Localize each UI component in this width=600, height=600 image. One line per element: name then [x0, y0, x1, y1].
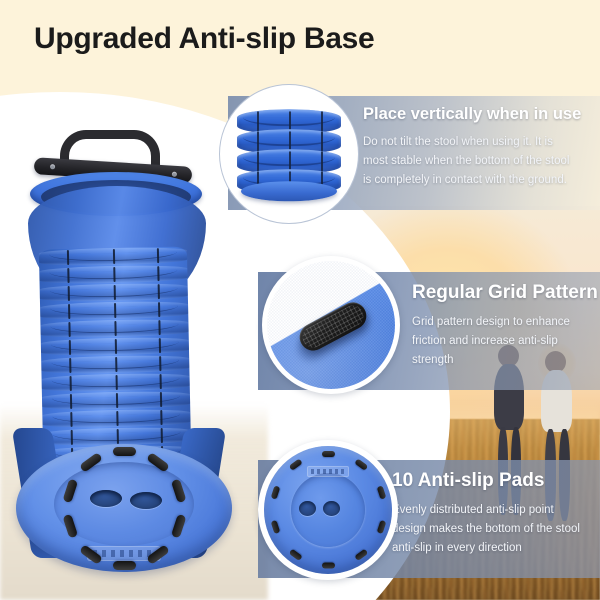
stool-bottom-hole-left: [299, 501, 316, 516]
marketing-image-stage: Upgraded Anti-slip Base: [0, 0, 600, 600]
anti-slip-pad: [113, 561, 136, 570]
collapsed-stool-base: [241, 181, 337, 201]
anti-slip-pad: [322, 451, 335, 457]
callout-body-place-vertically: Do not tilt the stool when using it. It …: [363, 133, 569, 190]
base-hole-left: [90, 490, 122, 507]
callout-body-anti-slip-pads: Evenly distributed anti-slip point desig…: [392, 501, 580, 558]
callout-title-place-vertically: Place vertically when in use: [363, 105, 581, 124]
handle-screw-right: [172, 172, 177, 177]
stool-bottom-brand-logo: [307, 466, 349, 477]
callout-body-regular-grid-pattern: Grid pattern design to enhance friction …: [412, 313, 570, 370]
collapsed-stool-rings: [237, 109, 341, 195]
page-title: Upgraded Anti-slip Base: [34, 22, 374, 56]
base-hole-right: [130, 492, 162, 509]
callout-title-anti-slip-pads: 10 Anti-slip Pads: [392, 470, 544, 492]
callout-image-stool-bottom: [258, 440, 398, 580]
anti-slip-pad: [322, 563, 335, 569]
handle-screw-left: [50, 164, 55, 169]
callout-image-grid-pad-macro: [262, 256, 400, 394]
callout-title-regular-grid-pattern: Regular Grid Pattern: [412, 282, 598, 304]
anti-slip-pad: [113, 447, 136, 456]
callout-image-collapsed-stool: [219, 84, 359, 224]
product-image-collapsible-stool: [8, 128, 258, 580]
stool-bottom-hole-right: [323, 501, 340, 516]
